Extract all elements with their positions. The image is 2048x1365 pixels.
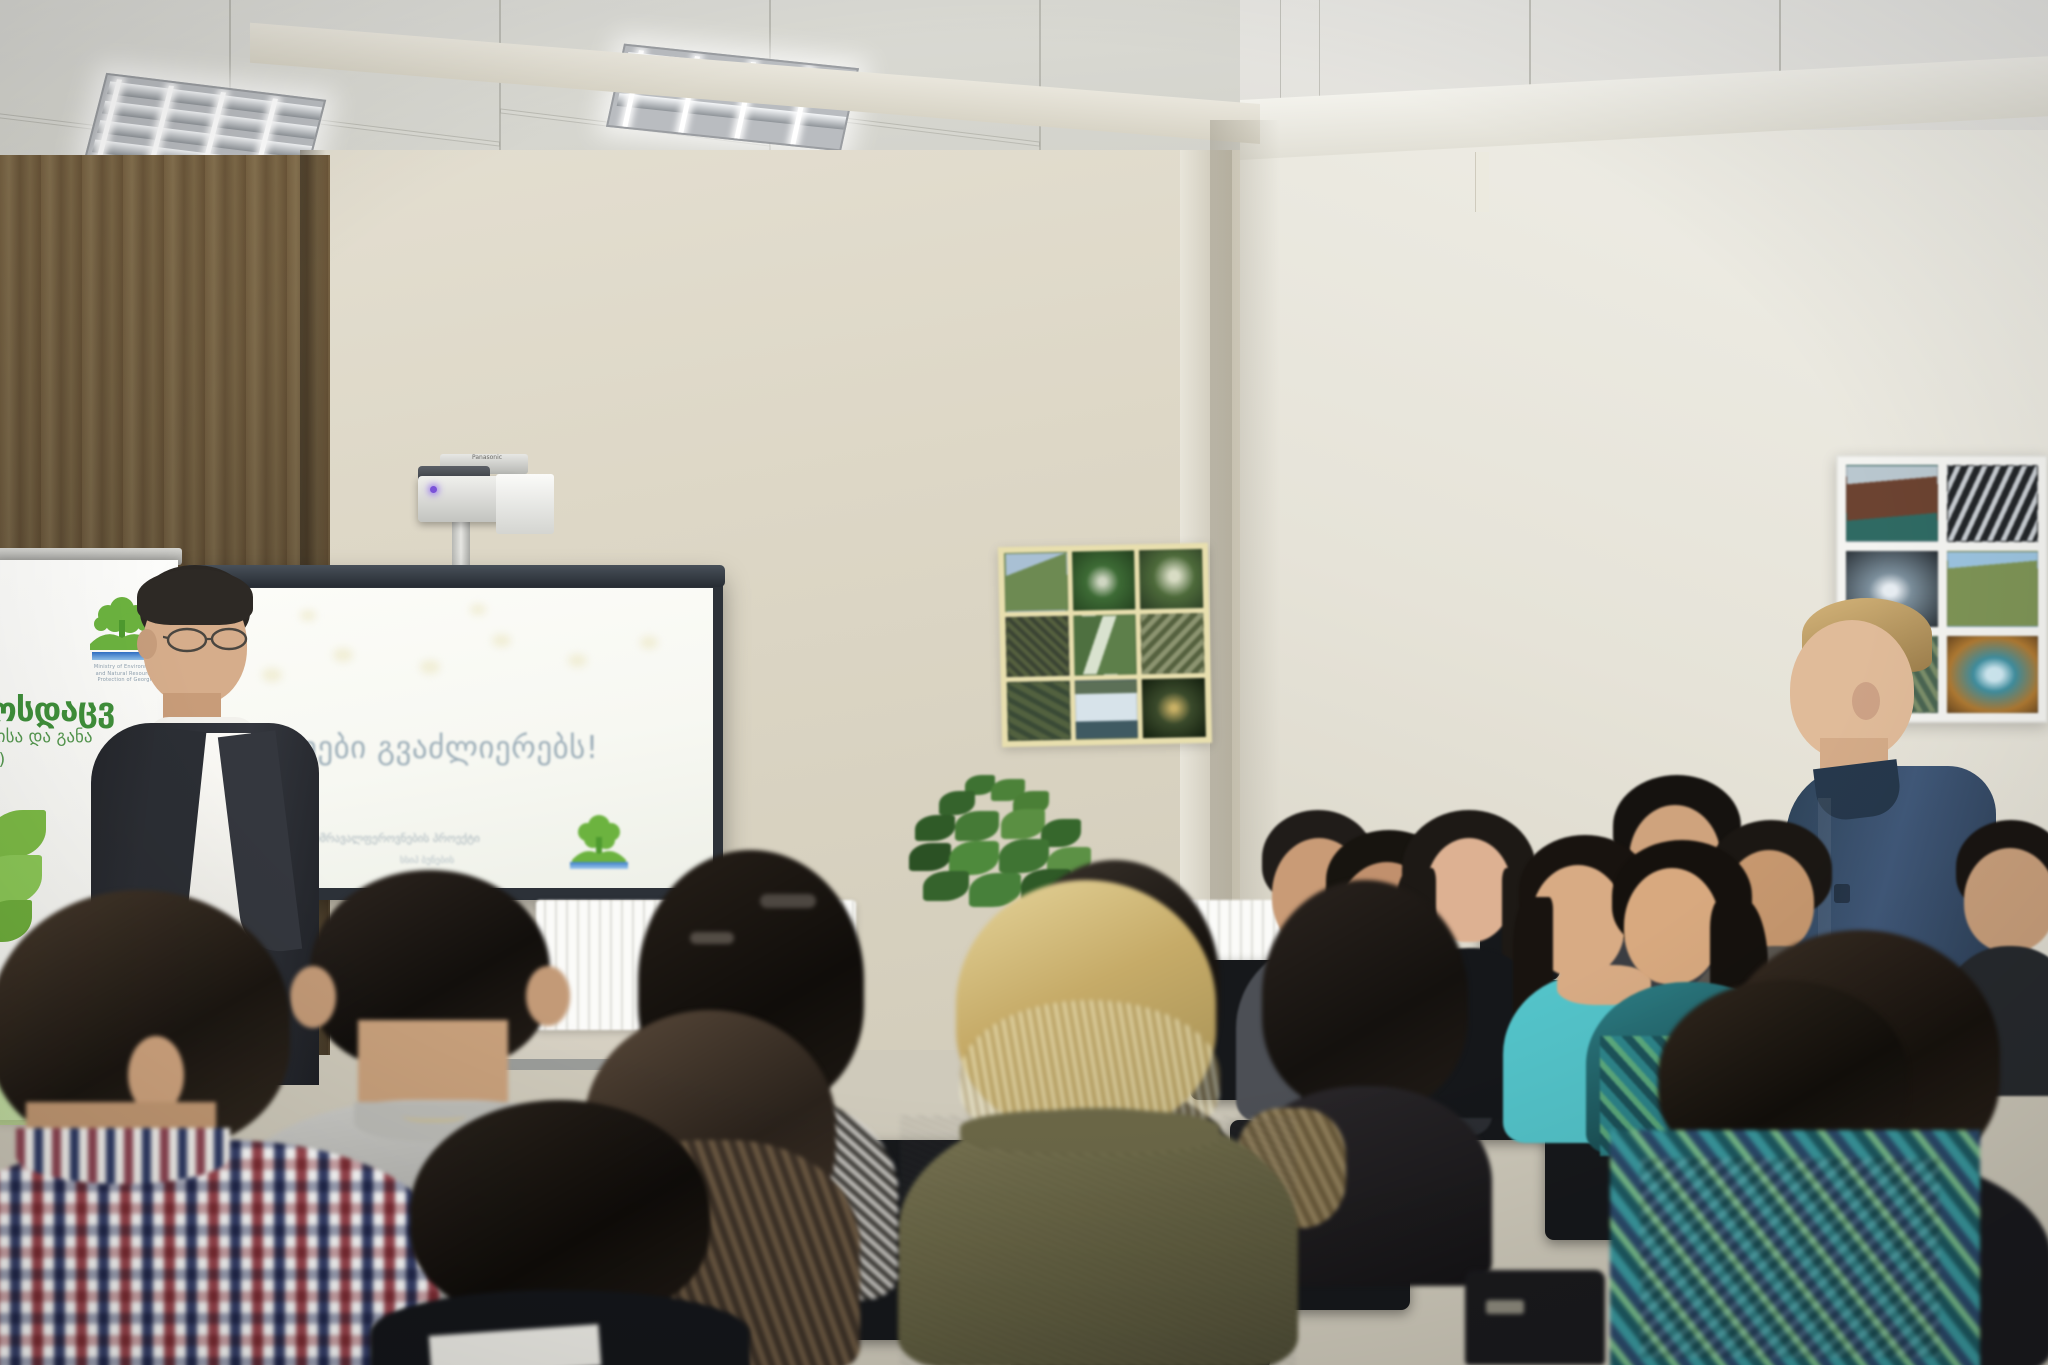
- panel-photo: [1947, 465, 2039, 542]
- projector-indicator-led: [430, 486, 437, 493]
- attendee-checkered-shirt: [0, 890, 420, 1365]
- collage-photo: [1004, 552, 1068, 613]
- banner-subtitle-2: ე): [0, 750, 50, 770]
- attendee-patterned-scarf-foreground: [1620, 980, 1960, 1365]
- attendee-dark-foreground-far: [390, 1100, 730, 1365]
- photo-collage-3x3: [998, 543, 1212, 747]
- wall-conduit: [1475, 152, 1489, 212]
- hair-clip: [760, 894, 816, 908]
- presenter-ear: [137, 629, 157, 659]
- projector-side-panel: [496, 474, 554, 534]
- seminar-room-photo: Ministry of Environment and Natural Reso…: [0, 0, 2048, 1365]
- slide-headline-text: ხვეები გვაძლიერებს!: [268, 730, 738, 766]
- standing-man-ear: [1852, 682, 1880, 720]
- attendee-blonde-olive-cardigan: [930, 880, 1260, 1360]
- presenter-hair: [137, 569, 253, 625]
- collage-photo: [1142, 678, 1206, 739]
- attendee-ear: [526, 966, 570, 1026]
- collage-photo: [1074, 679, 1138, 740]
- collage-photo: [1073, 615, 1137, 676]
- handbag-charm: [1486, 1300, 1524, 1314]
- collage-photo: [1139, 549, 1203, 610]
- collage-photo: [1005, 616, 1069, 677]
- presenter-eyeglasses-icon: [163, 627, 253, 655]
- collage-photo: [1141, 613, 1205, 674]
- handbag: [1465, 1270, 1605, 1365]
- hair-clip: [690, 932, 734, 944]
- collage-photo: [1072, 550, 1136, 611]
- collage-photo: [1007, 680, 1071, 741]
- panel-photo: [1846, 465, 1938, 542]
- shirt-collar: [16, 1128, 230, 1184]
- projector-brand-label: Panasonic: [472, 454, 502, 461]
